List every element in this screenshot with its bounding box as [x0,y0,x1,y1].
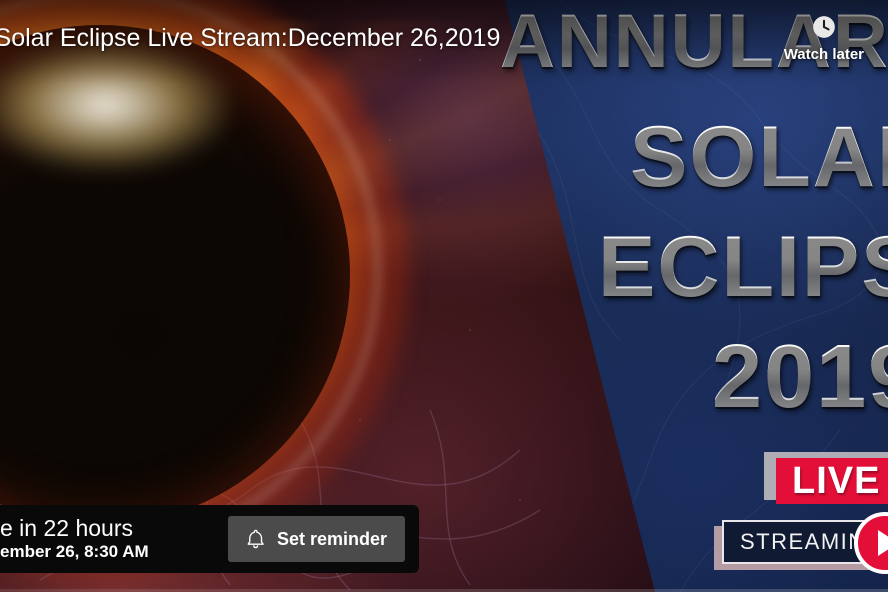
set-reminder-button[interactable]: Set reminder [228,516,405,562]
watch-later-label: Watch later [784,46,864,63]
video-thumbnail [0,0,888,592]
top-action-bar[interactable]: Watch later Sh [784,14,888,63]
video-title: nular Solar Eclipse Live Stream:December… [0,24,500,53]
live-badge-label: LIVE [792,462,880,500]
scheduled-stream-panel: e in 22 hours ember 26, 8:30 AM Set remi… [0,505,419,573]
schedule-text: e in 22 hours ember 26, 8:30 AM [0,515,228,563]
eclipse-limb-flare [0,40,230,170]
live-badge: LIVE [776,458,888,504]
set-reminder-label: Set reminder [277,529,387,550]
clock-icon [811,14,837,40]
watch-later-button[interactable]: Watch later [784,14,864,63]
play-triangle [878,530,888,556]
bell-icon [246,527,265,551]
schedule-datetime: ember 26, 8:30 AM [0,541,228,563]
video-player[interactable]: ANNULAR SOLAR ECLIPSE 2019 LIVE STREAMIN… [0,0,888,592]
schedule-status: e in 22 hours [0,515,228,541]
